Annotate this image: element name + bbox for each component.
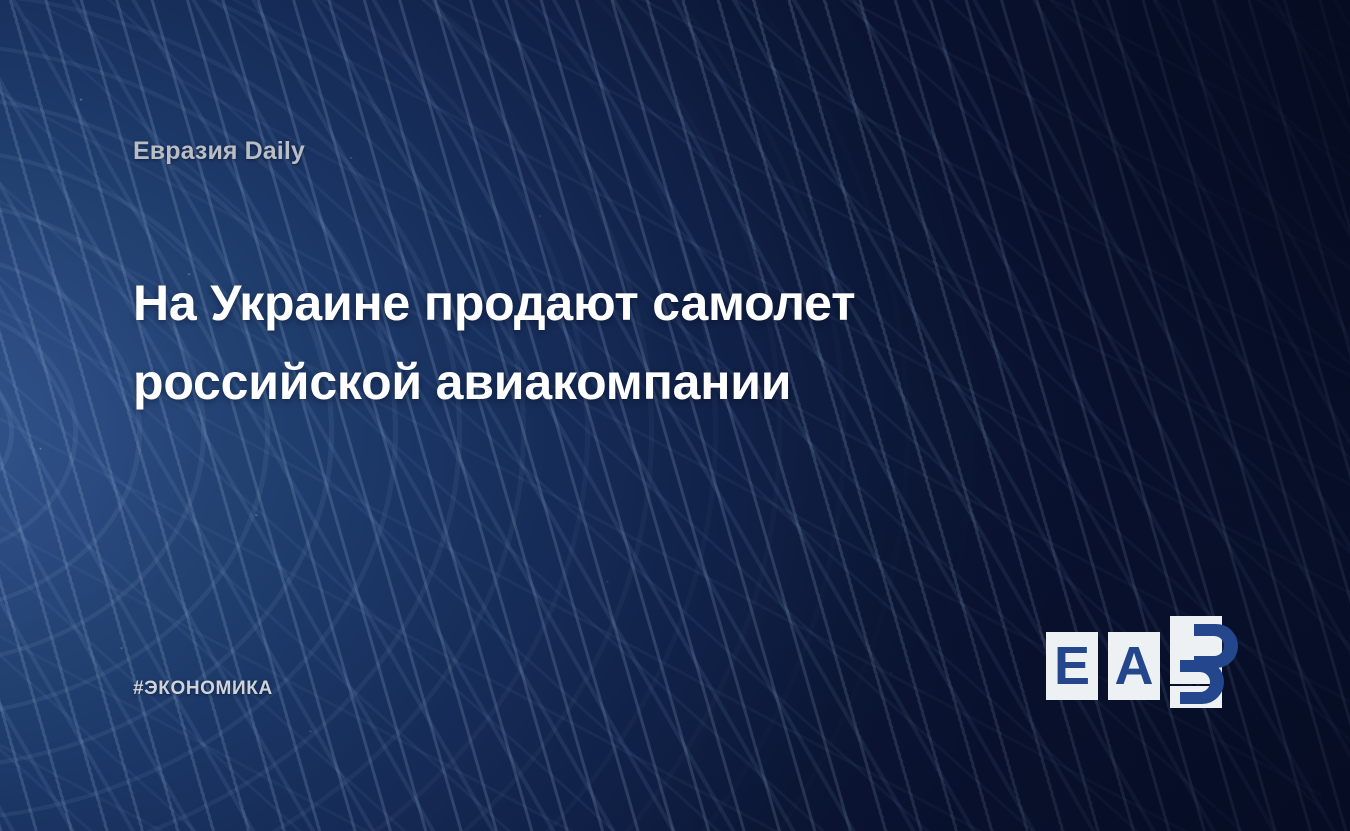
logo-d-icon bbox=[1170, 616, 1266, 708]
card-content: Евразия Daily На Украине продают самолет… bbox=[0, 0, 1350, 831]
news-share-card: Евразия Daily На Украине продают самолет… bbox=[0, 0, 1350, 831]
logo-letter-e: E bbox=[1054, 639, 1090, 693]
brand-name: Евразия Daily bbox=[133, 137, 305, 166]
logo-tile-d: D bbox=[1170, 616, 1266, 708]
page-title: На Украине продают самолет российской ав… bbox=[133, 264, 1013, 422]
logo-tile-e: E bbox=[1046, 632, 1098, 700]
logo-letter-d: D bbox=[1170, 708, 1171, 709]
eadaily-logo: E A D bbox=[1046, 616, 1226, 708]
category-tag: #ЭКОНОМИКА bbox=[133, 678, 273, 700]
logo-letter-a: A bbox=[1115, 639, 1154, 693]
logo-tile-a: A bbox=[1108, 632, 1160, 700]
